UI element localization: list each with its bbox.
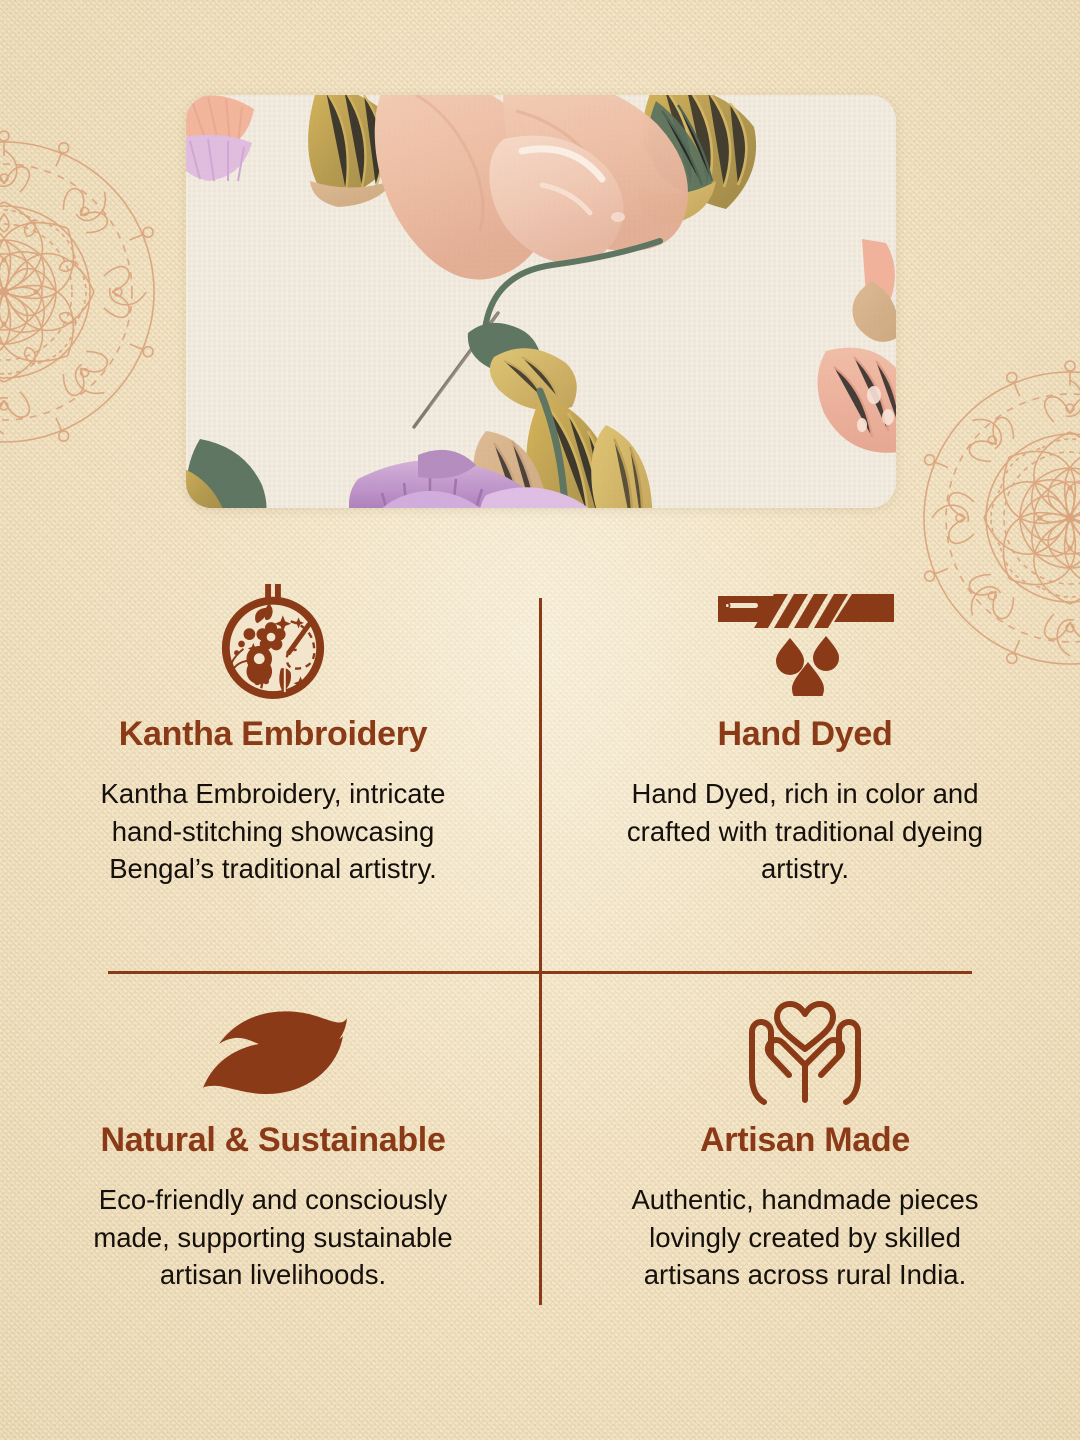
- embroidery-hoop-icon: [214, 582, 332, 700]
- leaf-icon: [197, 1004, 349, 1100]
- feature-card-kantha-embroidery: Kantha Embroidery Kantha Embroidery, int…: [38, 582, 508, 887]
- mandala-ornament-left: [0, 92, 204, 492]
- feature-title: Hand Dyed: [570, 716, 1040, 753]
- dye-drops-icon: [710, 586, 900, 696]
- feature-card-artisan-made: Artisan Made Authentic, handmade pieces …: [570, 992, 1040, 1293]
- icon-slot: [38, 992, 508, 1112]
- photo-illustration: [186, 95, 896, 508]
- feature-grid: Kantha Embroidery Kantha Embroidery, int…: [0, 560, 1080, 1350]
- grid-horizontal-divider: [108, 971, 972, 974]
- feature-description: Hand Dyed, rich in color and crafted wit…: [595, 775, 1015, 886]
- icon-slot: [570, 582, 1040, 700]
- kantha-embroidery-photo: [186, 95, 896, 508]
- feature-title: Kantha Embroidery: [38, 716, 508, 753]
- feature-description: Kantha Embroidery, intricate hand-stitch…: [71, 775, 475, 886]
- grid-vertical-divider: [539, 598, 542, 1305]
- feature-card-hand-dyed: Hand Dyed Hand Dyed, rich in color and c…: [570, 582, 1040, 887]
- feature-description: Authentic, handmade pieces lovingly crea…: [600, 1181, 1010, 1292]
- hands-heart-icon: [749, 999, 861, 1105]
- feature-description: Eco-friendly and consciously made, suppo…: [71, 1181, 475, 1292]
- icon-slot: [570, 992, 1040, 1112]
- feature-title: Artisan Made: [570, 1122, 1040, 1159]
- page-root: Kantha Embroidery Kantha Embroidery, int…: [0, 0, 1080, 1440]
- feature-title: Natural & Sustainable: [38, 1122, 508, 1159]
- icon-slot: [38, 582, 508, 700]
- feature-card-natural-sustainable: Natural & Sustainable Eco-friendly and c…: [38, 992, 508, 1293]
